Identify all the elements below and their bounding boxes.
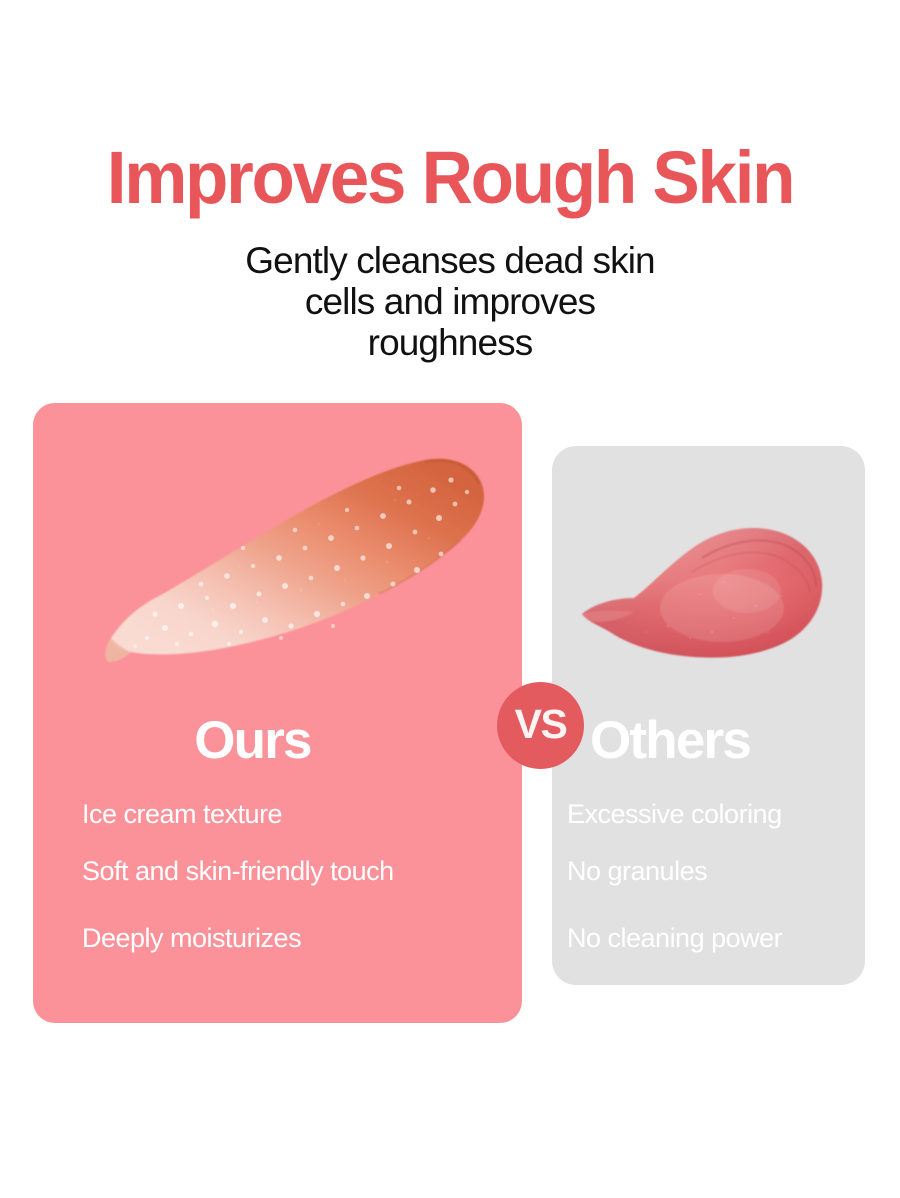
card-heading-ours: Ours (0, 714, 505, 767)
feature-item: Ice cream texture (82, 801, 502, 828)
feature-item: Excessive coloring (567, 801, 867, 828)
ours-product-swatch-icon (95, 438, 495, 683)
others-speckle-texture-icon (645, 581, 783, 640)
page-subtitle: Gently cleanses dead skin cells and impr… (170, 240, 730, 363)
subtitle-line-3: roughness (170, 322, 730, 363)
infographic-page: Improves Rough Skin Gently cleanses dead… (0, 0, 900, 1198)
ours-granule-texture-icon (133, 477, 469, 648)
feature-item: Soft and skin-friendly touch (82, 858, 502, 885)
others-product-swatch-icon (572, 486, 837, 676)
vs-badge-label: VS (515, 704, 567, 745)
feature-item: Deeply moisturizes (82, 925, 502, 952)
subtitle-line-2: cells and improves (170, 281, 730, 322)
feature-list-others: Excessive coloring No granules No cleani… (567, 798, 867, 952)
feature-item: No granules (567, 858, 867, 885)
feature-list-ours: Ice cream texture Soft and skin-friendly… (82, 798, 502, 952)
vs-badge: VS (497, 682, 584, 769)
feature-item: No cleaning power (567, 925, 867, 952)
subtitle-line-1: Gently cleanses dead skin (170, 240, 730, 281)
card-heading-others: Others (590, 714, 750, 767)
page-title: Improves Rough Skin (18, 139, 882, 217)
